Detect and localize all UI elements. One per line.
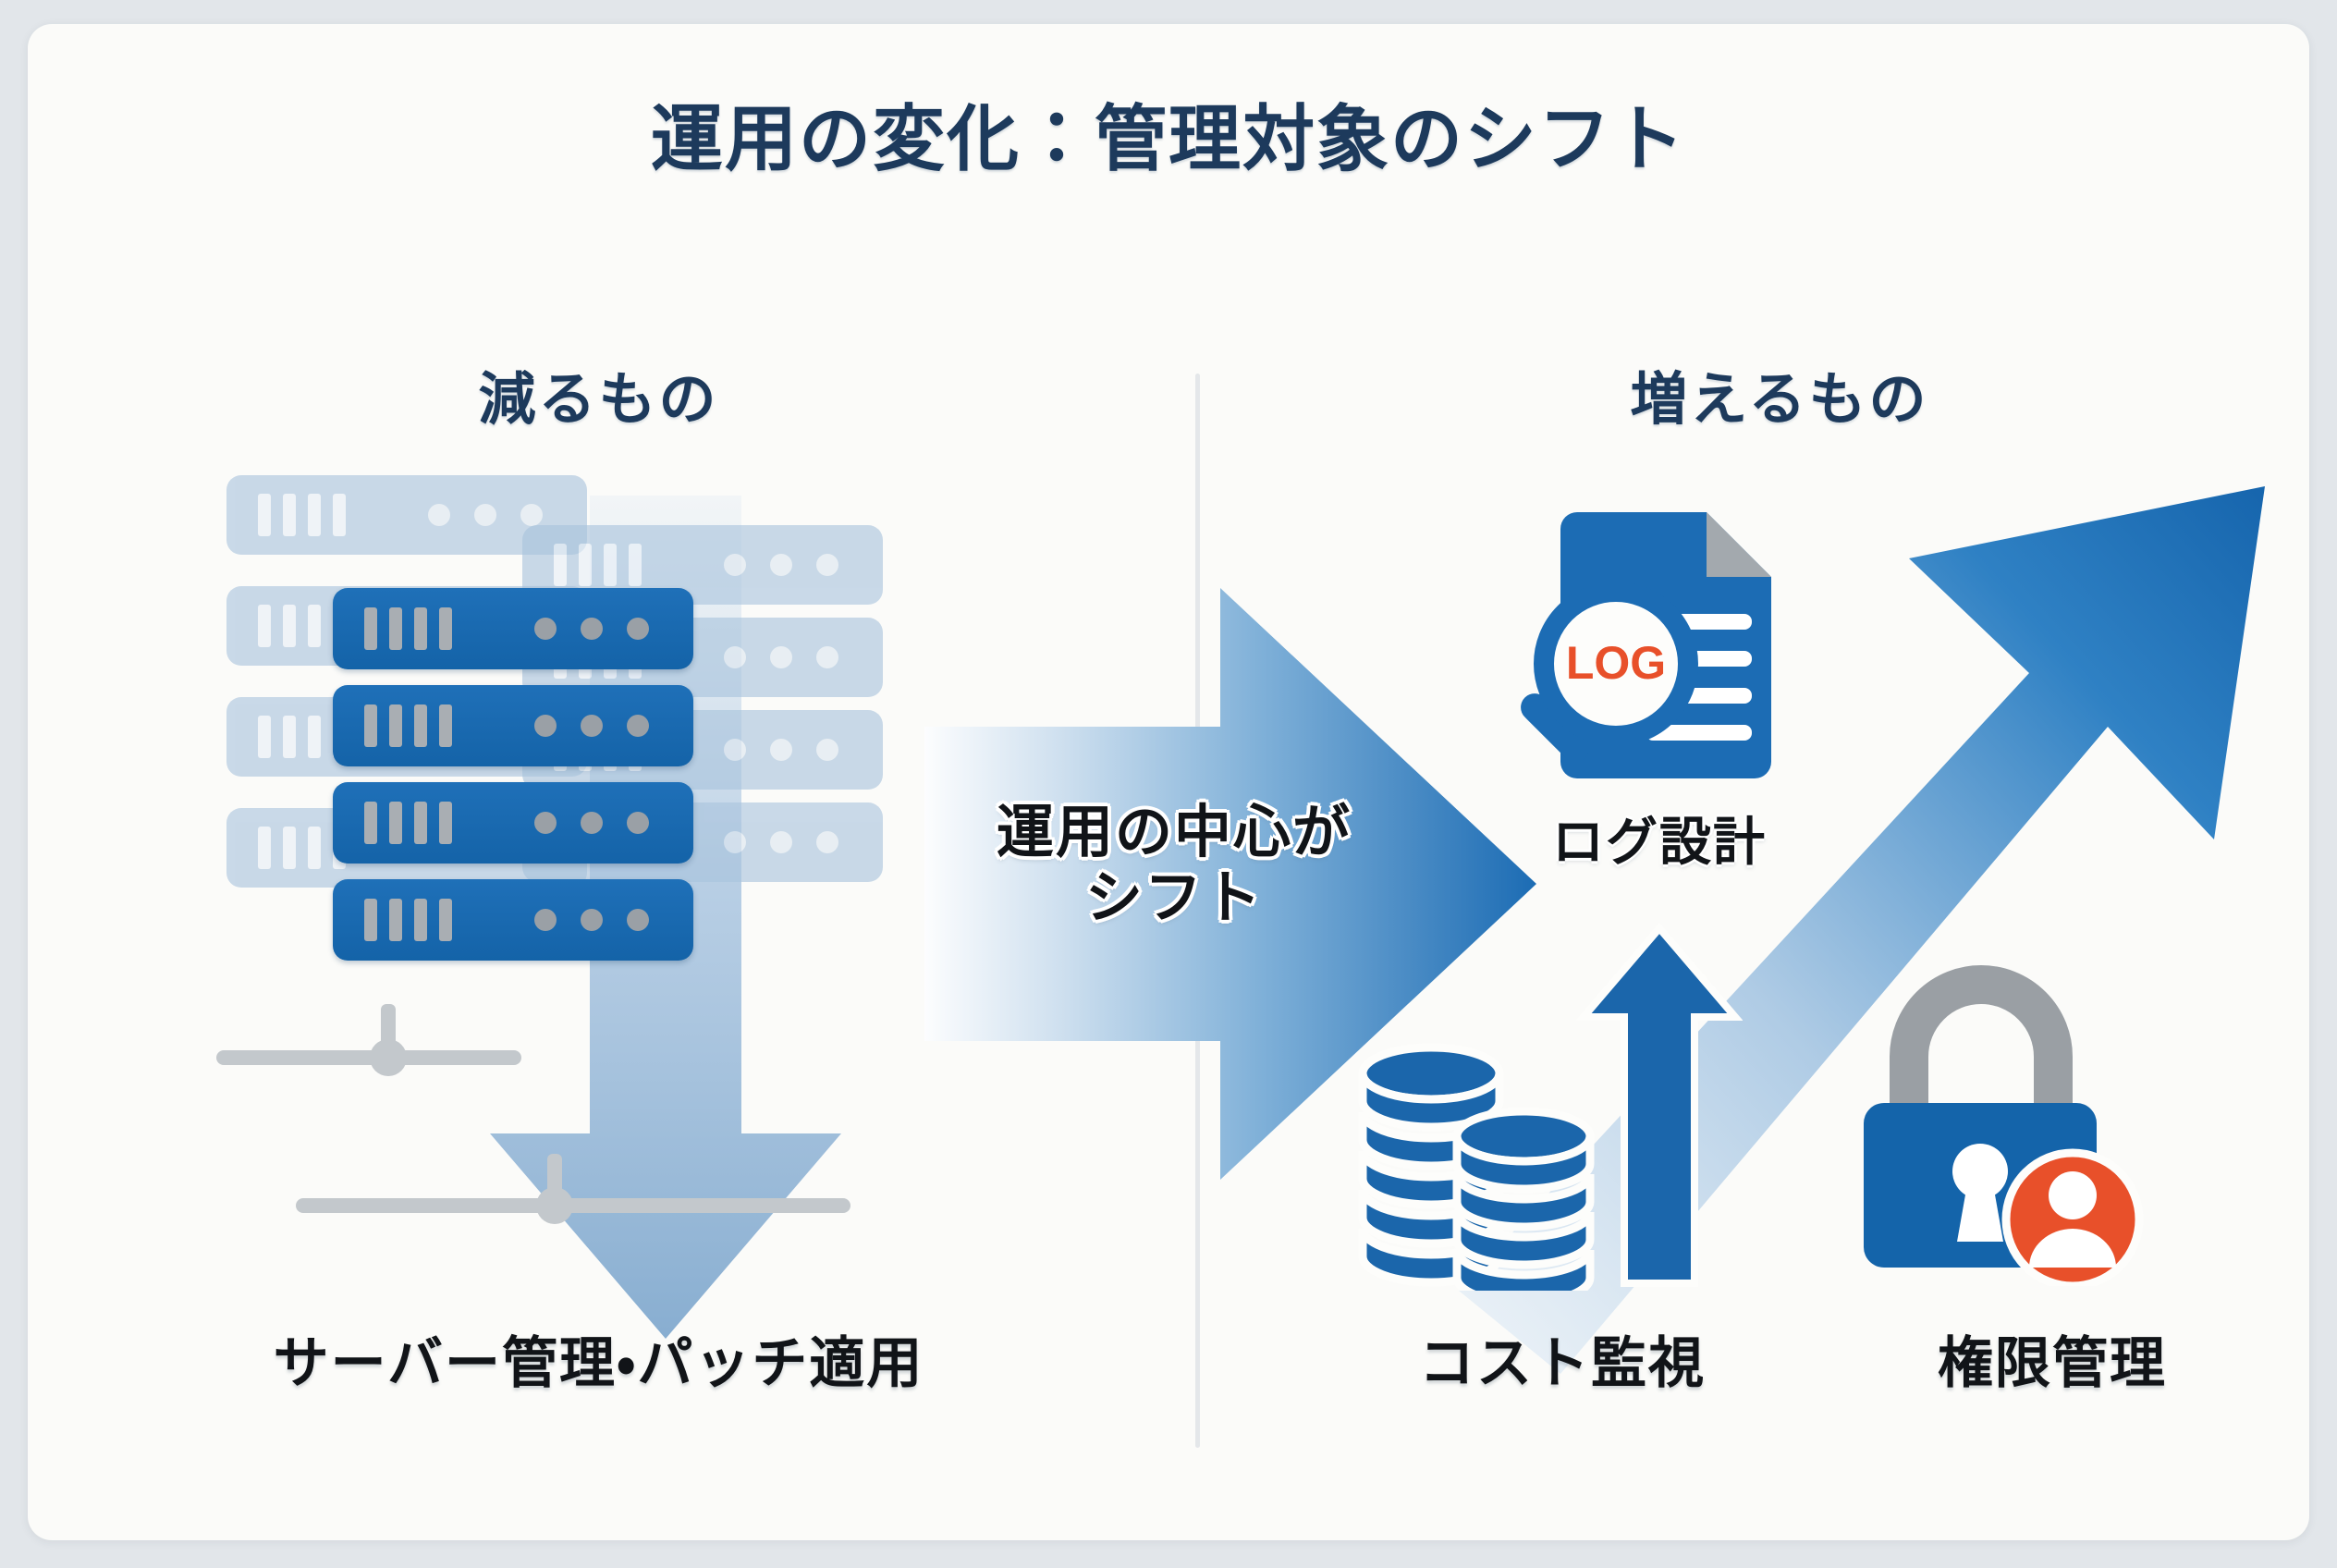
- page-title: 運用の変化：管理対象のシフト: [28, 81, 2309, 185]
- column-heading-decrease: 減るもの: [28, 352, 1169, 435]
- caption-cost-monitoring: コスト監視: [1322, 1318, 1803, 1399]
- server-rack-active: [333, 588, 693, 669]
- server-rack-active: [333, 685, 693, 766]
- cable-line-lower: [296, 1198, 850, 1213]
- lock-user-icon: [1830, 962, 2145, 1286]
- cost-up-arrow-icon: [1576, 921, 1743, 1291]
- log-badge-text: LOG: [1566, 637, 1666, 689]
- cable-line-upper: [216, 1050, 521, 1065]
- right-column-graphic: LOG ログ設計: [1350, 449, 2293, 1374]
- log-design-label: ログ設計: [1498, 801, 1821, 876]
- cable-stem-upper: [381, 1004, 396, 1060]
- content-card: 運用の変化：管理対象のシフト 減るもの 増えるもの: [28, 24, 2309, 1540]
- caption-server-management: サーバー管理・パッチ適用: [28, 1318, 1169, 1399]
- caption-permission-management: 権限管理: [1812, 1318, 2293, 1399]
- cable-stem-lower: [547, 1154, 562, 1207]
- server-rack-active: [333, 879, 693, 961]
- infographic-stage: 運用の変化：管理対象のシフト 減るもの 増えるもの: [0, 0, 2337, 1568]
- log-document-search-icon: LOG: [1507, 496, 1812, 801]
- server-rack-active: [333, 782, 693, 864]
